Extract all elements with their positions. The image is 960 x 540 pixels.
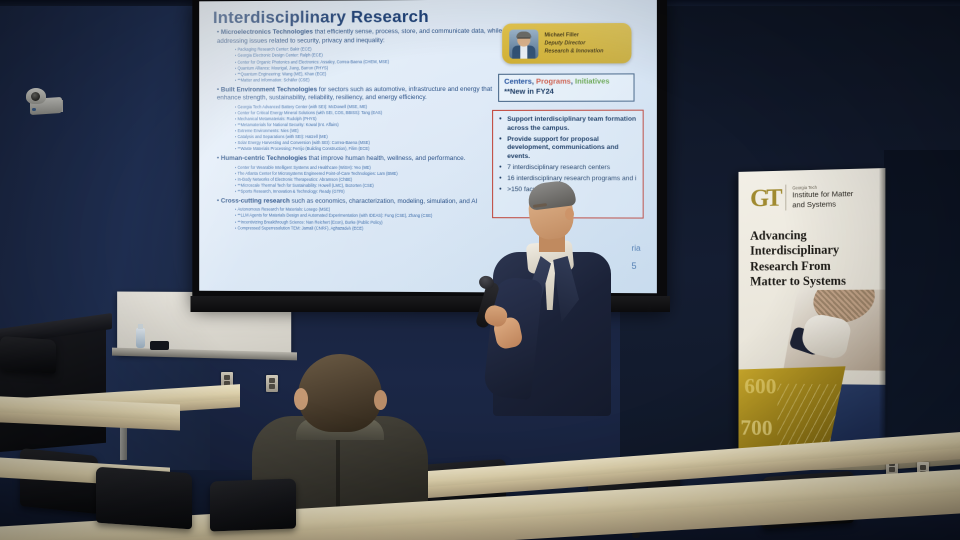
micrograph-label: 600 [744, 373, 776, 399]
red-box-item: 16 interdisciplinary research programs a… [499, 175, 636, 184]
red-box-item: Provide support for proposal development… [499, 136, 636, 162]
attendee-ear [294, 388, 308, 410]
camera-led [32, 108, 36, 111]
slide-section-1: Microelectronics Technologies that effic… [217, 28, 505, 46]
list-item: **Sports Research, Innovation & Technolo… [235, 189, 509, 196]
cpi-note: **New in FY24 [504, 86, 628, 96]
section-3-lead: that improve human health, wellness, and… [309, 155, 466, 162]
banner-org-name: Institute for Matter and Systems [792, 189, 864, 209]
slide-section-2: Built Environment Technologies for secto… [217, 85, 505, 102]
camera-lens-icon [31, 92, 40, 101]
slide-footer-fragment: ria [632, 244, 641, 253]
chair [96, 467, 192, 530]
banner-image-wafer [783, 290, 885, 371]
attendee-hair [298, 354, 382, 432]
speaker-role: Deputy Director [544, 39, 603, 47]
avatar-shirt [520, 45, 527, 58]
red-box-item: Support interdisciplinary team formation… [499, 116, 636, 133]
banner-logo-lockup: GT Georgia Tech Institute for Matter and… [750, 183, 864, 211]
micrograph-label: 700 [740, 415, 772, 441]
glasses-icon [517, 37, 530, 41]
attendee-ear [374, 390, 387, 410]
wall-far-right [884, 150, 960, 470]
slide-page-number: 5 [631, 261, 636, 271]
speaker-name: Michael Filler [544, 31, 603, 39]
slide-section-2-items: Georgia Tech Advanced Battery Center (wi… [235, 103, 509, 152]
ptz-camera-icon [24, 88, 64, 116]
red-box-item: 7 interdisciplinary research centers [499, 164, 636, 173]
slide-section-1-items: Packaging Research Center: Bakir (ECE) G… [235, 46, 509, 84]
section-2-heading: Built Environment Technologies [221, 86, 317, 93]
section-4-lead: such as economics, characterization, mod… [292, 198, 478, 205]
banner-headline: Advancing Interdisciplinary Research Fro… [750, 227, 849, 289]
label-centers: Centers [504, 77, 532, 86]
slide-section-4: Cross-cutting research such as economics… [217, 197, 505, 206]
list-item: Compressed Superresolution TEM: Jamali (… [235, 225, 509, 232]
section-1-heading: Microelectronics Technologies [221, 29, 313, 36]
whiteboard-eraser [150, 341, 169, 350]
label-initiatives: Initiatives [575, 76, 610, 85]
slide-section-4-items: Autonomous Research for Materials: Loseg… [235, 207, 509, 232]
slide-section-3-items: Center for Wearable Intelligent Systems … [235, 164, 509, 195]
label-programs: Programs [536, 77, 571, 86]
section-1-lead: that efficiently sense, process, store, … [315, 28, 470, 36]
slide-section-3: Human-centric Technologies that improve … [217, 155, 505, 164]
centers-programs-initiatives-box: Centers, Programs, Initiatives **New in … [498, 73, 634, 101]
speaker-badge-text: Michael Filler Deputy Director Research … [544, 31, 603, 56]
sanitizer-bottle [136, 328, 145, 348]
logo-divider [785, 185, 786, 211]
roll-up-banner: GT Georgia Tech Institute for Matter and… [738, 168, 885, 472]
chair [0, 336, 56, 374]
list-item: **Waste Materials Processing: Ferrijo (B… [235, 146, 509, 152]
georgia-tech-logo-icon: GT [750, 185, 779, 210]
section-2-lead: for sectors such as automotive, infrastr… [319, 85, 480, 92]
list-item: **Matter and Information: Schäfer (CSE) [235, 77, 509, 84]
lecture-room-photo: Interdisciplinary Research Microelectron… [0, 0, 960, 540]
speaker-unit: Research & Innovation [544, 47, 603, 55]
section-3-heading: Human-centric Technologies [221, 155, 307, 162]
presenter [487, 186, 613, 416]
chair [210, 478, 296, 531]
presenter-ear [565, 208, 574, 220]
banner-edge-shadow [879, 168, 885, 472]
speaker-badge: Michael Filler Deputy Director Research … [502, 23, 631, 64]
cpi-labels: Centers, Programs, Initiatives [504, 77, 628, 86]
avatar [509, 29, 538, 58]
section-4-heading: Cross-cutting research [221, 197, 290, 204]
